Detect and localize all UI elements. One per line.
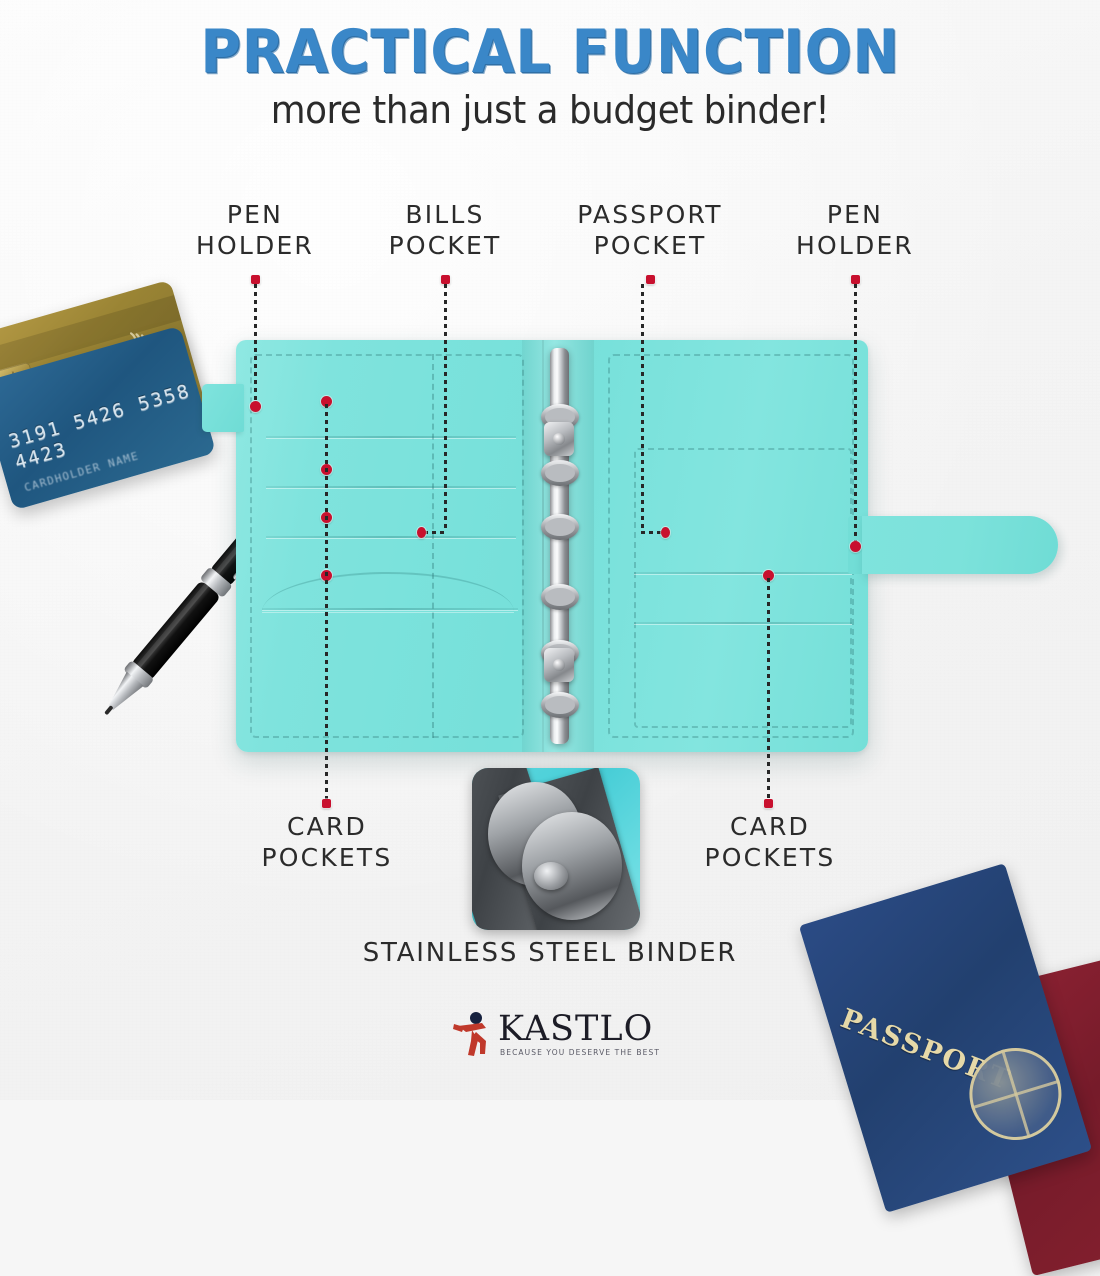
callout-label-pen-holder-right: PEN HOLDER <box>760 200 950 261</box>
leader-passport-pocket-v <box>641 284 644 532</box>
passport-blue: PASSPORT <box>799 863 1092 1213</box>
binder-ring <box>541 460 579 486</box>
callout-dot-card-pockets-left <box>322 799 331 808</box>
leader-card-pockets-right <box>767 578 770 800</box>
running-figure-icon <box>452 1010 494 1062</box>
callout-endpoint-passport-pocket <box>661 527 670 538</box>
leader-bills-pocket-v <box>444 284 447 532</box>
callout-dot-pen-holder-left <box>251 275 260 284</box>
leader-bills-pocket-h <box>424 531 446 534</box>
ring-clasp <box>544 648 574 682</box>
callout-endpoint-pen-holder-right <box>850 541 861 552</box>
callout-label-card-pockets-right: CARD POCKETS <box>675 812 865 873</box>
callout-label-card-pockets-left: CARD POCKETS <box>232 812 422 873</box>
product-photo: 5888 8888 8888 8888 EL BAYARDO 3191 5426… <box>0 0 1100 1100</box>
ring-clasp <box>544 422 574 456</box>
callout-label-bills-pocket: BILLS POCKET <box>350 200 540 261</box>
inset-caption: STAINLESS STEEL BINDER <box>300 938 800 970</box>
binder-ring <box>541 584 579 610</box>
callout-label-passport-pocket: PASSPORT POCKET <box>535 200 765 261</box>
inset-ring-knob <box>534 862 568 890</box>
stainless-steel-binder-rings <box>539 348 579 744</box>
binder-ring <box>541 692 579 718</box>
callout-endpoint-bills-pocket <box>417 527 426 538</box>
passport-pocket <box>634 448 852 728</box>
pen-holder-left <box>202 384 244 432</box>
binder-ring <box>541 514 579 540</box>
card-pocket-slot <box>634 622 852 624</box>
logo-wordmark: KASTLO <box>498 1012 653 1047</box>
callout-dot-pen-holder-right <box>851 275 860 284</box>
pen-holder-right-strap <box>862 516 1058 574</box>
binder-closeup-inset <box>472 768 640 930</box>
leader-pen-holder-right <box>854 284 857 546</box>
callout-dot-passport-pocket <box>646 275 655 284</box>
infographic-canvas: PRACTICAL FUNCTION more than just a budg… <box>0 0 1100 1100</box>
callout-label-pen-holder-left: PEN HOLDER <box>160 200 350 261</box>
card-pocket-slot <box>634 572 852 574</box>
callout-dot-bills-pocket <box>441 275 450 284</box>
callout-endpoint-pen-holder-left <box>250 401 261 412</box>
leader-pen-holder-left <box>254 284 257 406</box>
logo-tagline: BECAUSE YOU DESERVE THE BEST <box>500 1048 660 1057</box>
callout-dot-card-pockets-right <box>764 799 773 808</box>
leader-card-pockets-left <box>325 404 328 800</box>
brand-logo: KASTLO BECAUSE YOU DESERVE THE BEST <box>452 1012 652 1070</box>
